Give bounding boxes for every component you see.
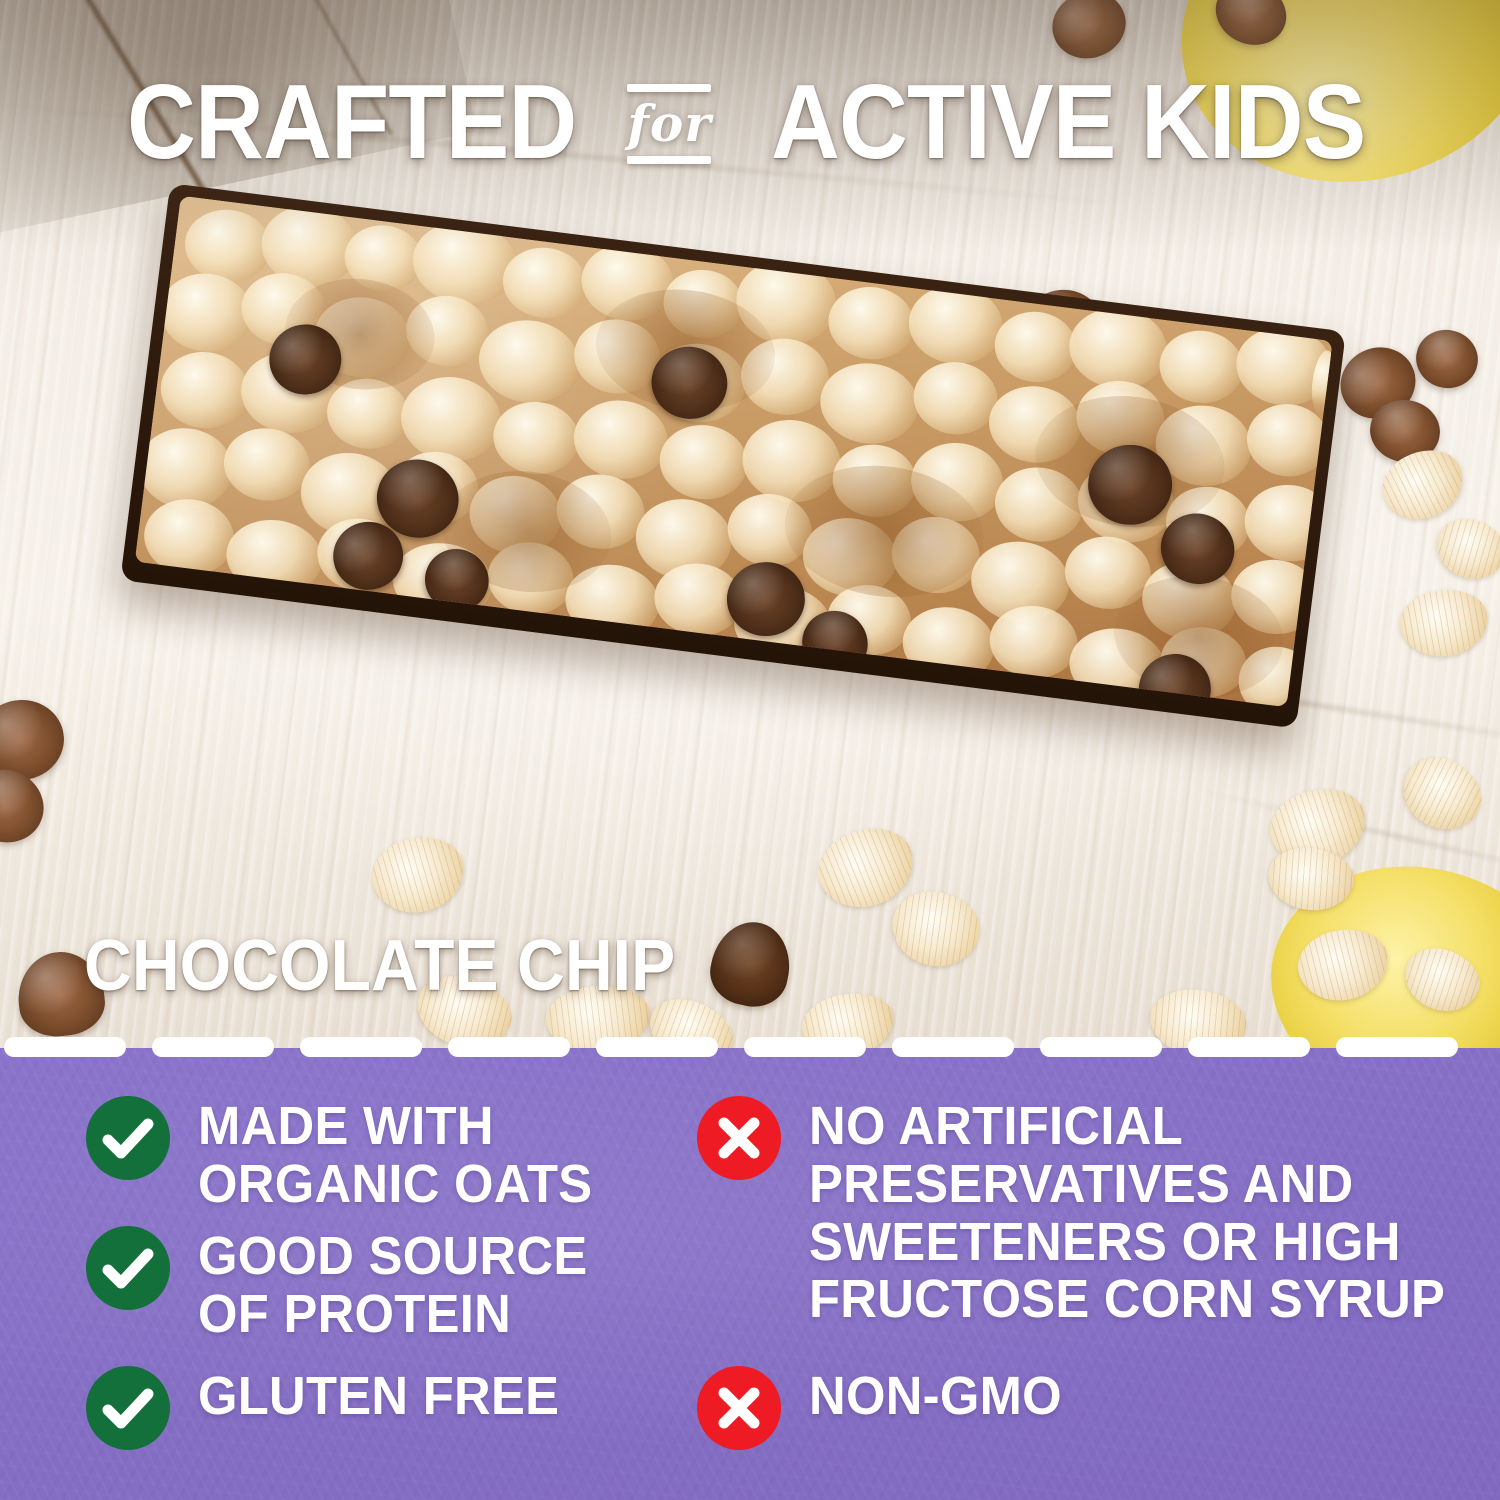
product-photo [0,0,1500,1048]
claim-gluten-free: GLUTEN FREE [86,1366,582,1450]
divider-dash [1336,1037,1458,1057]
divider-dash [596,1037,718,1057]
claim-made-with-organic-oats: MADE WITH ORGANIC OATS [86,1096,618,1214]
claim-non-gmo: NON-GMO [697,1366,1078,1450]
product-marketing-image: CRAFTED for ACTIVE KIDS CHOCOLATE CHIP [0,0,1500,1500]
claim-no-artificial-preservatives: NO ARTIFICIAL PRESERVATIVES AND SWEETENE… [697,1096,1486,1329]
claim-label: GLUTEN FREE [198,1366,559,1426]
divider-dash [1040,1037,1162,1057]
claim-label: NO ARTIFICIAL PRESERVATIVES AND SWEETENE… [809,1096,1445,1329]
cross-circle-icon [697,1366,781,1450]
cross-circle-icon [697,1096,781,1180]
check-circle-icon [86,1366,170,1450]
divider-dash [300,1037,422,1057]
divider-dash [1188,1037,1310,1057]
divider-dash [152,1037,274,1057]
claim-label: GOOD SOURCE OF PROTEIN [198,1226,587,1344]
divider-dash [4,1037,126,1057]
check-circle-icon [86,1226,170,1310]
claim-label: MADE WITH ORGANIC OATS [198,1096,592,1214]
flavor-label: CHOCOLATE CHIP [84,930,675,1002]
divider-dash [892,1037,1014,1057]
divider-dash [744,1037,866,1057]
claim-good-source-of-protein: GOOD SOURCE OF PROTEIN [86,1226,612,1344]
dashed-divider [0,1034,1500,1060]
divider-dash [448,1037,570,1057]
claims-panel: MADE WITH ORGANIC OATS GOOD SOURCE OF PR… [0,1048,1500,1500]
headline-shade [0,0,1500,250]
check-circle-icon [86,1096,170,1180]
claims-columns: MADE WITH ORGANIC OATS GOOD SOURCE OF PR… [0,1048,1500,1500]
claim-label: NON-GMO [809,1366,1062,1426]
